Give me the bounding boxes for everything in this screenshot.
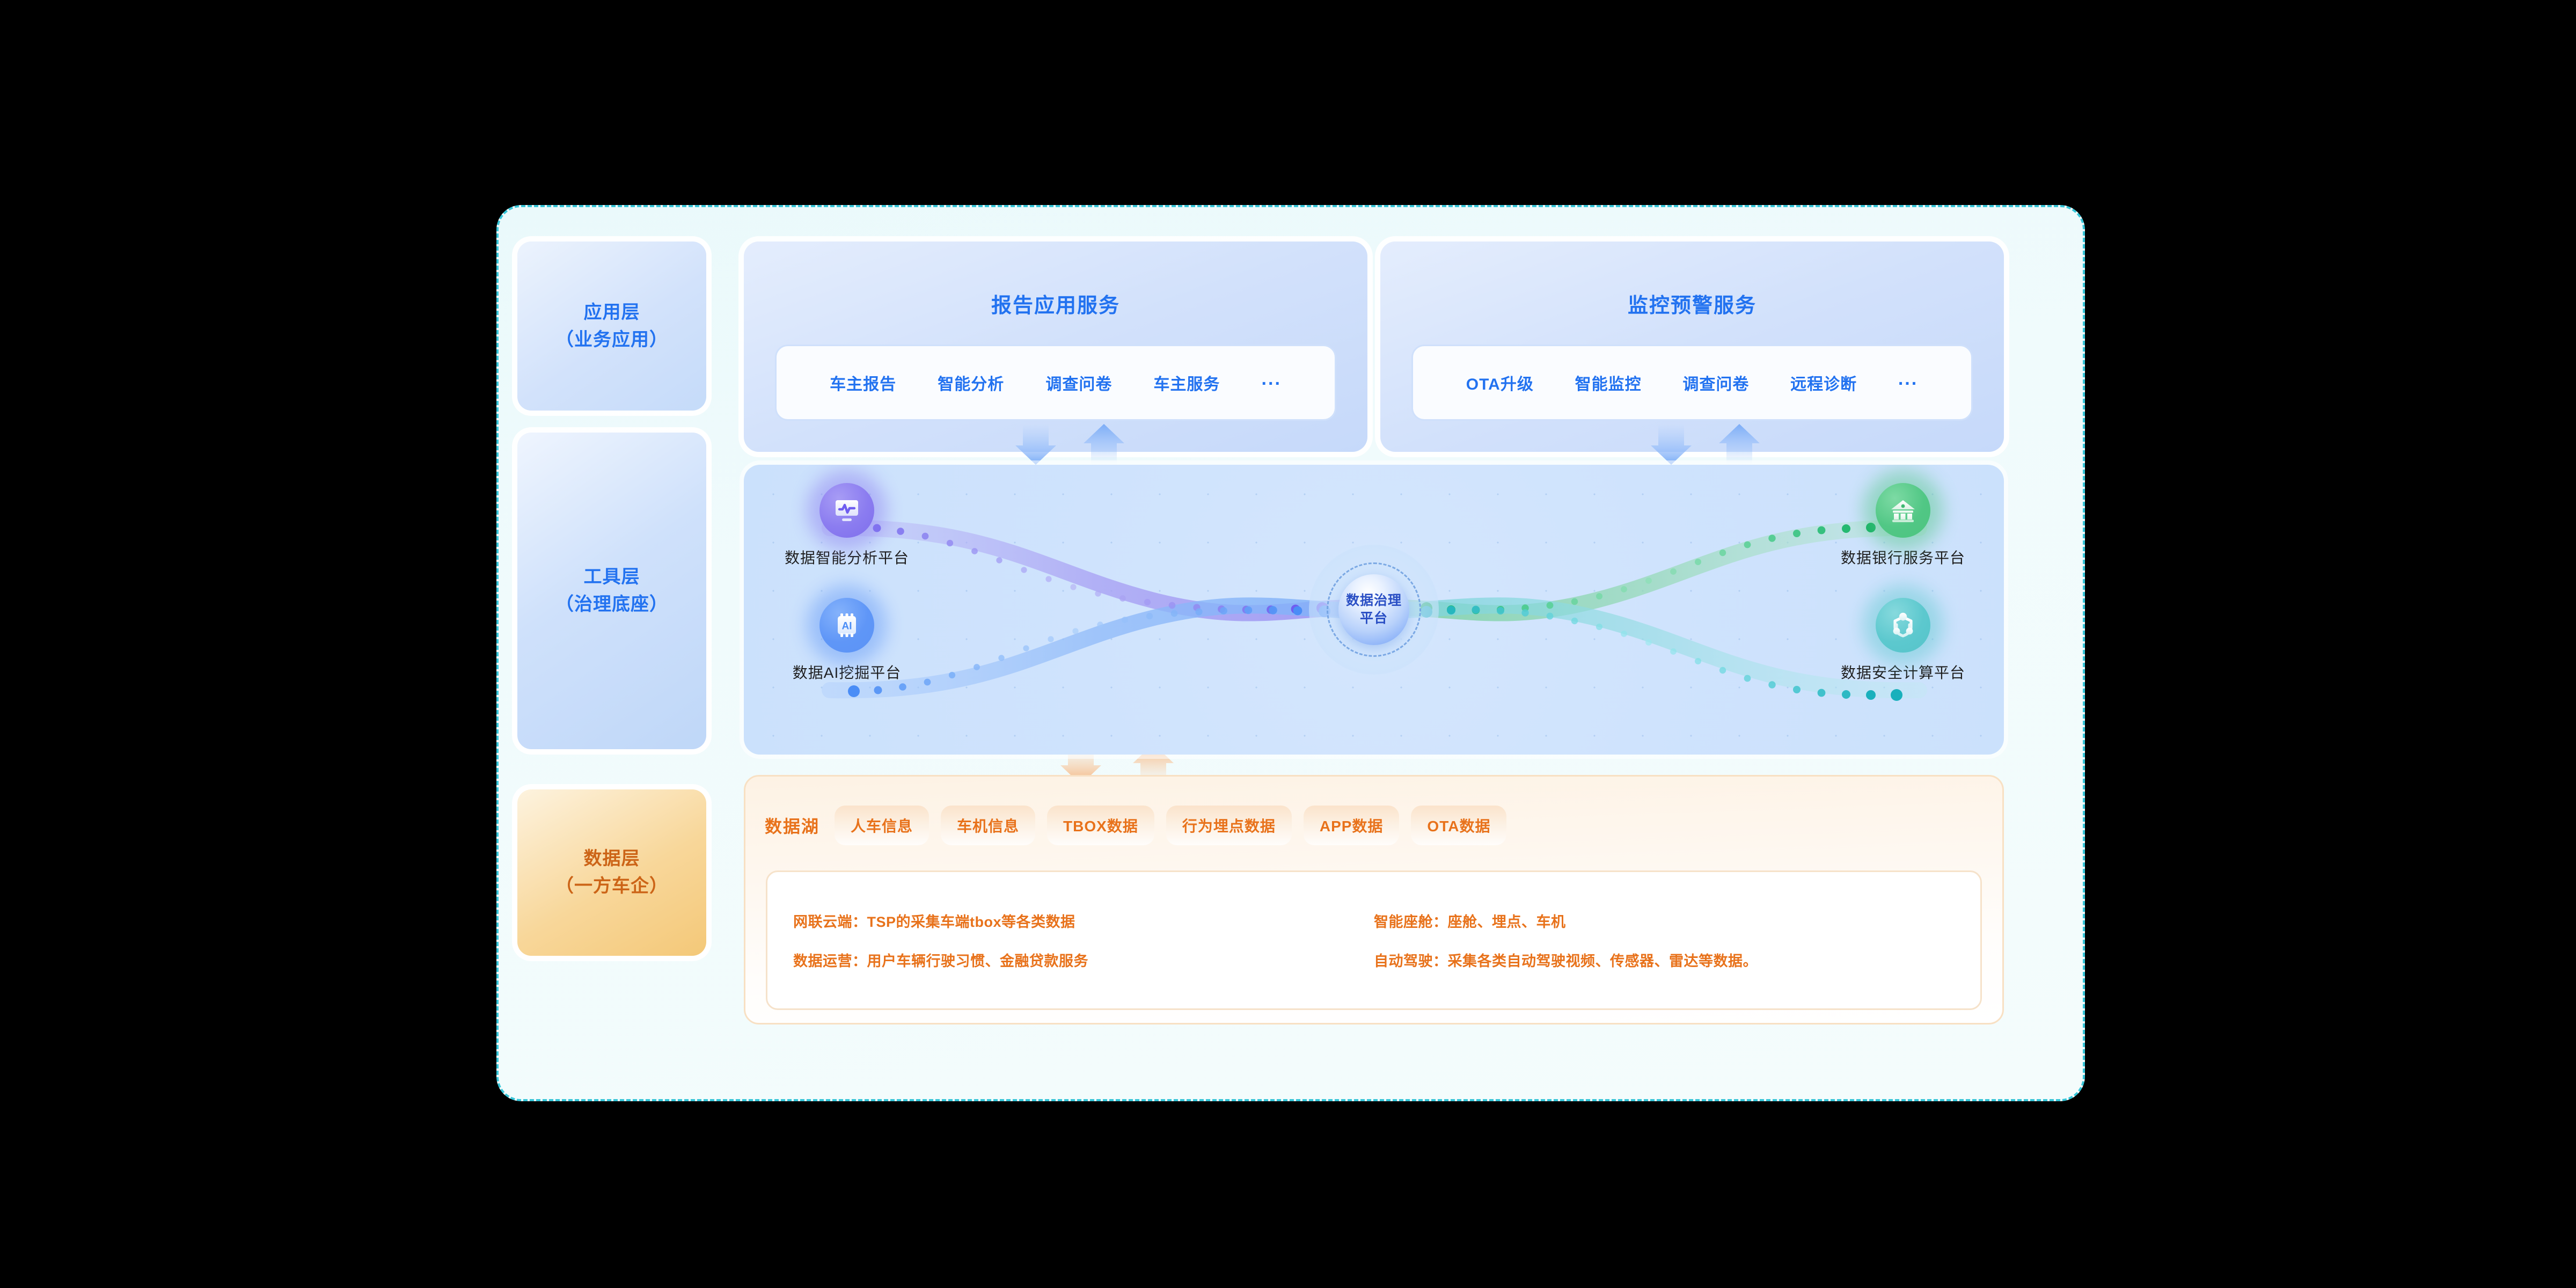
data-lake-tag[interactable]: 行为埋点数据	[1166, 806, 1292, 845]
platform-node-label: 数据智能分析平台	[766, 546, 927, 568]
service-item[interactable]: 智能监控	[1575, 371, 1642, 394]
architecture-frame: 应用层 （业务应用） 工具层 （治理底座） 数据层 （一方车企） 报告应用服务 …	[496, 205, 2085, 1101]
service-item[interactable]: 车主服务	[1153, 371, 1220, 394]
data-lake-tag[interactable]: 车机信息	[941, 806, 1035, 845]
bank-building-icon	[1876, 483, 1930, 538]
service-item[interactable]: 调查问卷	[1682, 371, 1749, 394]
rail-label-line2: （治理底座）	[555, 591, 668, 618]
data-lake-tag[interactable]: OTA数据	[1411, 806, 1506, 845]
service-item[interactable]: OTA升级	[1466, 371, 1534, 394]
data-lake-detail-line: 自动驾驶：采集各类自动驾驶视频、传感器、雷达等数据。	[1374, 949, 1955, 970]
rail-label-line1: 应用层	[555, 299, 668, 326]
platform-node-label: 数据安全计算平台	[1823, 661, 1984, 683]
platform-node-ai-mining[interactable]: AI 数据AI挖掘平台	[766, 598, 927, 683]
data-lake-details: 网联云端：TSP的采集车端tbox等各类数据 智能座舱：座舱、埋点、车机 数据运…	[766, 870, 1982, 1010]
rail-item-data-layer[interactable]: 数据层 （一方车企）	[517, 789, 706, 956]
service-item[interactable]: 车主报告	[830, 371, 896, 394]
data-lake-detail-line: 网联云端：TSP的采集车端tbox等各类数据	[793, 910, 1374, 931]
service-item[interactable]: 调查问卷	[1045, 371, 1112, 394]
rail-label-line1: 数据层	[555, 845, 668, 873]
data-lake-tag[interactable]: TBOX数据	[1047, 806, 1154, 845]
service-item-more[interactable]: ...	[1262, 369, 1282, 397]
service-item[interactable]: 远程诊断	[1790, 371, 1857, 394]
rail-label-line1: 工具层	[555, 563, 668, 591]
data-lake-title: 数据湖	[765, 813, 819, 838]
platform-node-bank[interactable]: 数据银行服务平台	[1823, 483, 1984, 568]
service-card-title: 监控预警服务	[1380, 289, 2004, 318]
monitor-pulse-icon	[819, 483, 874, 538]
tool-layer-panel: 数据治理 平台	[744, 465, 2004, 755]
platform-node-label: 数据银行服务平台	[1823, 546, 1984, 568]
platform-node-secure-compute[interactable]: 数据安全计算平台	[1823, 598, 1984, 683]
svg-text:AI: AI	[842, 621, 852, 632]
service-card-title: 报告应用服务	[744, 289, 1367, 318]
shield-network-icon	[1876, 598, 1930, 653]
governance-hub[interactable]: 数据治理 平台	[1309, 545, 1438, 674]
data-lake-panel: 数据湖 人车信息 车机信息 TBOX数据 行为埋点数据 APP数据 OTA数据 …	[744, 775, 2004, 1024]
diagram-canvas: 应用层 （业务应用） 工具层 （治理底座） 数据层 （一方车企） 报告应用服务 …	[0, 0, 2576, 1288]
service-item-list: OTA升级 智能监控 调查问卷 远程诊断 ...	[1411, 345, 1973, 421]
data-lake-detail-line: 智能座舱：座舱、埋点、车机	[1374, 910, 1955, 931]
hub-label-line2: 平台	[1360, 610, 1388, 627]
service-card-monitoring[interactable]: 监控预警服务 OTA升级 智能监控 调查问卷 远程诊断 ...	[1380, 241, 2004, 452]
data-lake-tag[interactable]: 人车信息	[835, 806, 929, 845]
hub-label-line1: 数据治理	[1346, 592, 1402, 610]
rail-item-application-layer[interactable]: 应用层 （业务应用）	[517, 241, 706, 411]
platform-node-label: 数据AI挖掘平台	[766, 661, 927, 683]
ai-chip-icon: AI	[819, 598, 874, 653]
rail-item-tool-layer[interactable]: 工具层 （治理底座）	[517, 433, 706, 749]
platform-node-analytics[interactable]: 数据智能分析平台	[766, 483, 927, 568]
hub-core: 数据治理 平台	[1338, 574, 1409, 645]
rail-label-line2: （一方车企）	[555, 873, 668, 900]
rail-label-line2: （业务应用）	[555, 326, 668, 354]
data-lake-tag[interactable]: APP数据	[1304, 806, 1400, 845]
service-card-report[interactable]: 报告应用服务 车主报告 智能分析 调查问卷 车主服务 ...	[744, 241, 1367, 452]
service-item-list: 车主报告 智能分析 调查问卷 车主服务 ...	[775, 345, 1336, 421]
data-lake-detail-line: 数据运营：用户车辆行驶习惯、金融贷款服务	[793, 949, 1374, 970]
service-item[interactable]: 智能分析	[938, 371, 1004, 394]
service-item-more[interactable]: ...	[1898, 369, 1918, 397]
data-lake-header: 数据湖 人车信息 车机信息 TBOX数据 行为埋点数据 APP数据 OTA数据	[765, 802, 1983, 848]
